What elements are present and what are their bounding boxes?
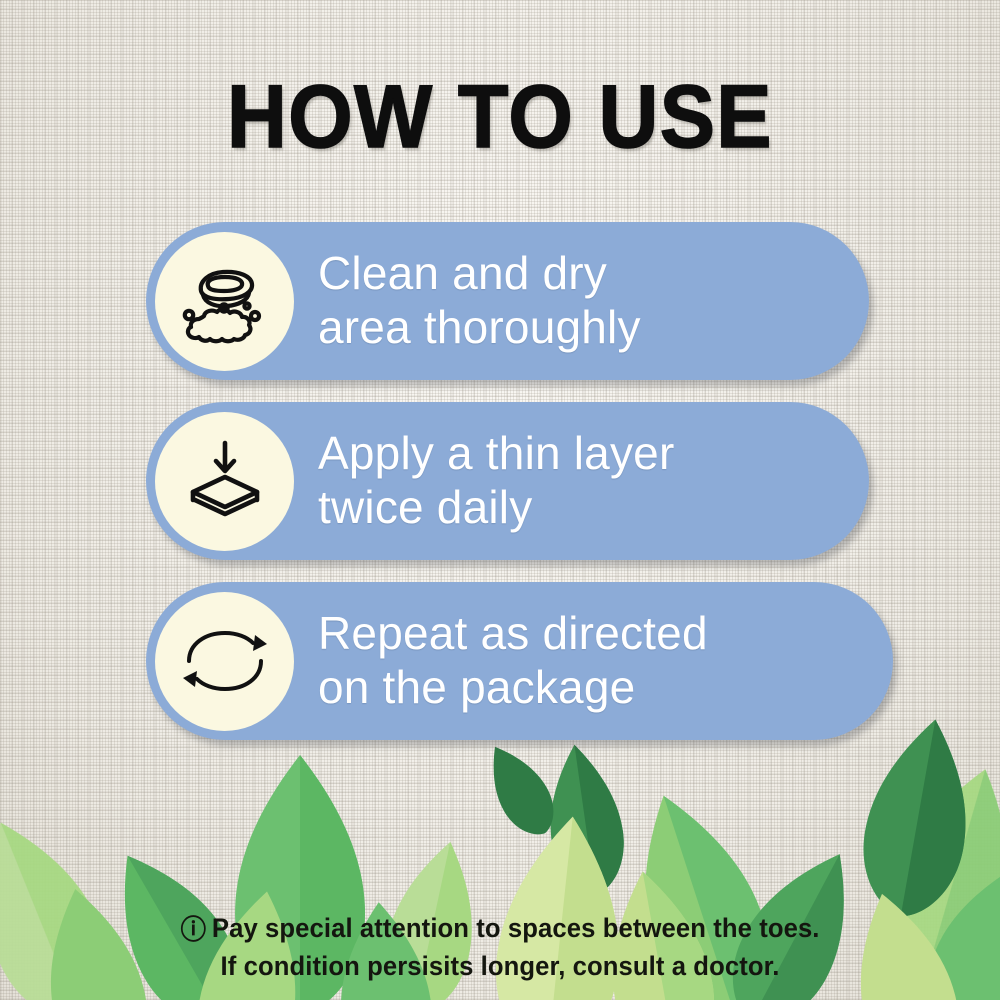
poster-canvas: HOW TO USE [0, 0, 1000, 1000]
step-3-label: Repeat as directed on the package [318, 607, 708, 715]
footer-note-line-2: If condition persisits longer, consult a… [25, 948, 975, 984]
page-title: HOW TO USE [35, 72, 965, 161]
repeat-loop-icon [175, 611, 275, 711]
scrub-brush-suds-icon [177, 253, 273, 349]
step-item-1[interactable]: Clean and dry area thoroughly [146, 222, 869, 380]
footer-note-line-1-text: Pay special attention to spaces between … [212, 913, 820, 943]
layers-down-arrow-icon [177, 433, 273, 529]
step-item-3[interactable]: Repeat as directed on the package [146, 582, 893, 740]
step-1-label: Clean and dry area thoroughly [318, 247, 641, 355]
step-2-label: Apply a thin layer twice daily [318, 427, 674, 535]
step-2-badge [155, 412, 294, 551]
step-1-badge [155, 232, 294, 371]
footer-note: ⓘPay special attention to spaces between… [25, 910, 975, 984]
info-circle-icon: ⓘ [180, 912, 206, 948]
steps-list: Clean and dry area thoroughly [146, 222, 893, 740]
step-3-badge [155, 592, 294, 731]
step-item-2[interactable]: Apply a thin layer twice daily [146, 402, 869, 560]
footer-note-line-1: ⓘPay special attention to spaces between… [25, 910, 975, 948]
